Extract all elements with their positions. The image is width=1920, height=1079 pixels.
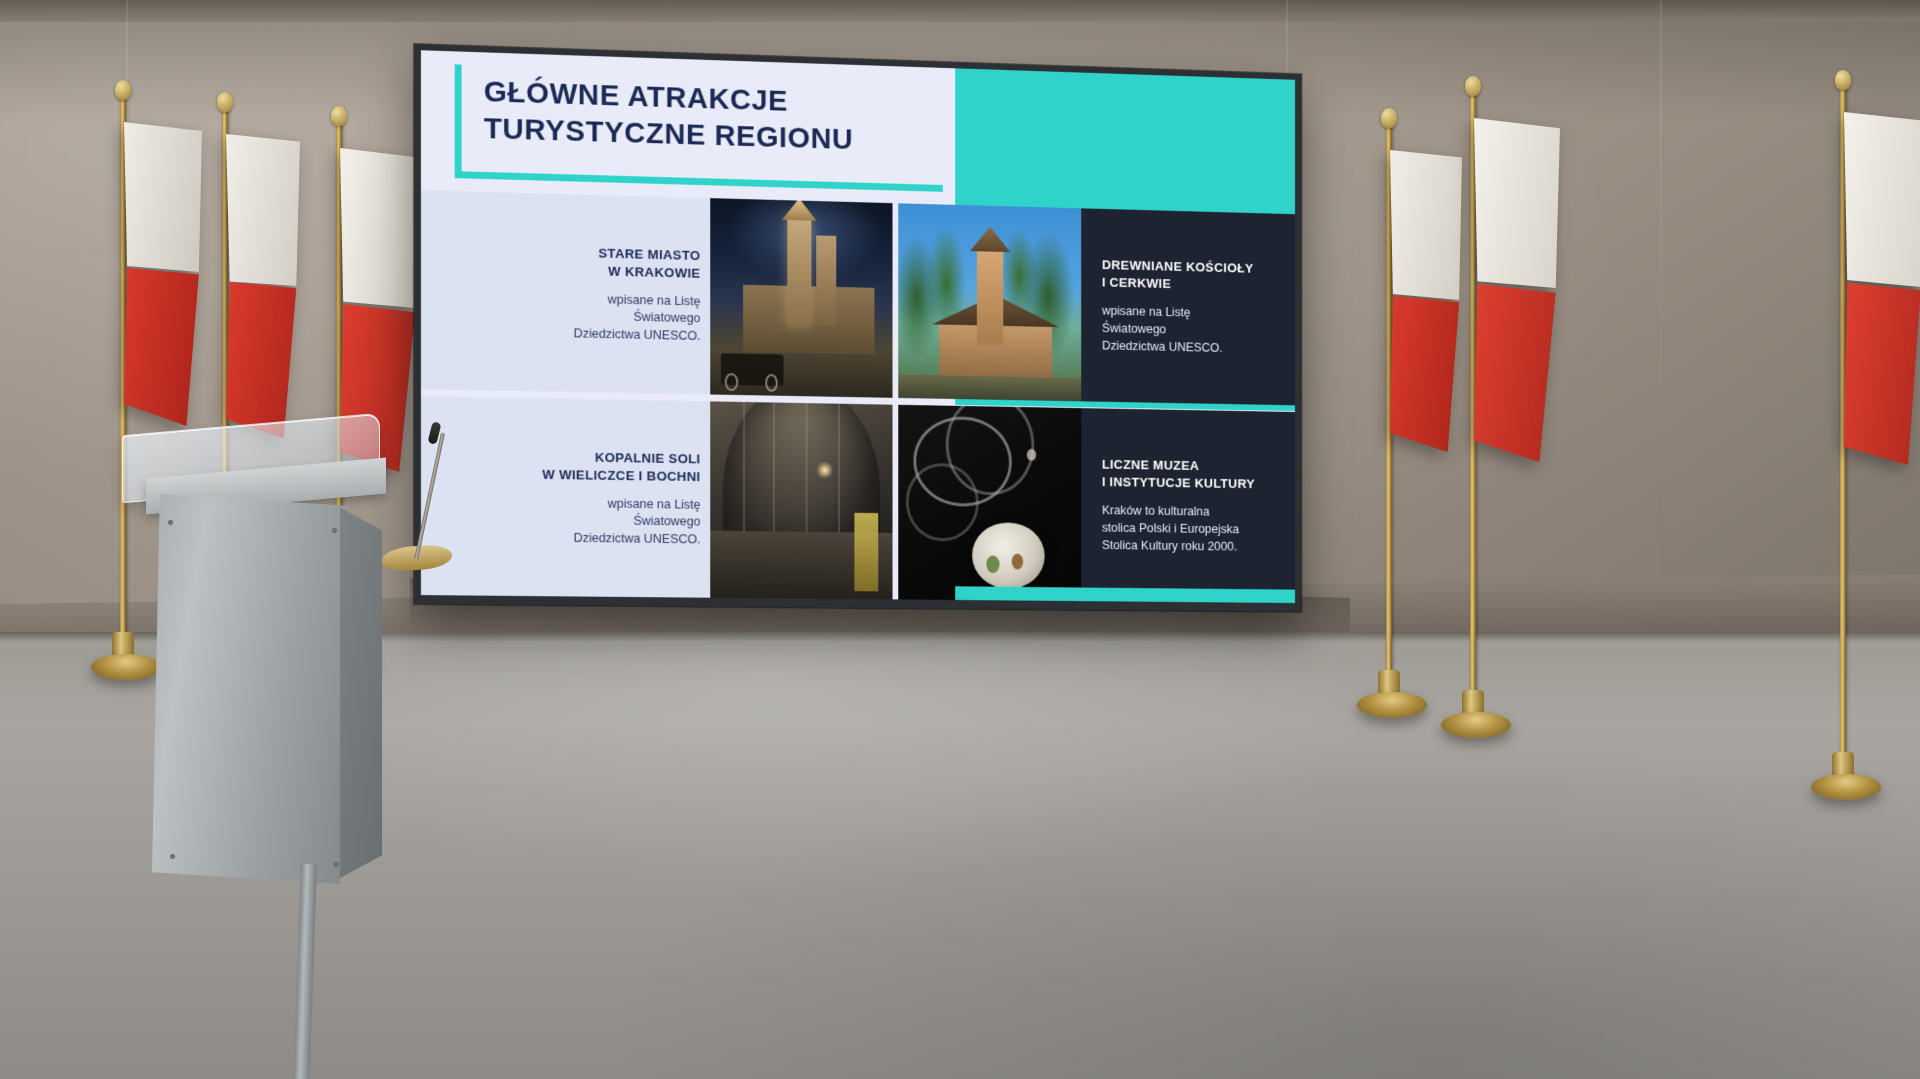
flag-right-3 <box>1840 86 1920 786</box>
conference-room: GŁÓWNE ATRAKCJE TURYSTYCZNE REGIONU STAR… <box>0 0 1920 1079</box>
slide: GŁÓWNE ATRAKCJE TURYSTYCZNE REGIONU STAR… <box>421 50 1295 603</box>
card-body: Kraków to kulturalna stolica Polski i Eu… <box>1102 501 1239 555</box>
card-body-line-3: Dziedzictwa UNESCO. <box>1102 336 1223 356</box>
speaker-lectern[interactable] <box>118 424 418 1079</box>
flag-finial-icon <box>1835 70 1851 90</box>
display-panel: GŁÓWNE ATRAKCJE TURYSTYCZNE REGIONU STAR… <box>421 50 1295 603</box>
flag-right-2 <box>1470 92 1600 724</box>
flag-cloth <box>1390 150 1462 450</box>
flag-cloth <box>226 134 300 434</box>
card-title: LICZNE MUZEA I INSTYTUCJE KULTURY <box>1102 456 1255 493</box>
flag-base <box>1441 712 1511 738</box>
slide-bottom-teal-strip <box>956 587 1295 604</box>
slide-title: GŁÓWNE ATRAKCJE TURYSTYCZNE REGIONU <box>484 75 853 159</box>
presentation-display[interactable]: GŁÓWNE ATRAKCJE TURYSTYCZNE REGIONU STAR… <box>414 44 1301 612</box>
card-title-line-1: KOPALNIE SOLI <box>542 448 700 468</box>
lectern-front-panel <box>152 494 348 884</box>
lectern-support-column <box>287 864 317 1079</box>
flag-finial-icon <box>217 92 233 112</box>
photo-wooden-church <box>898 203 1081 401</box>
flag-cloth <box>1474 118 1560 458</box>
card-body-line-2: stolica Polski i Europejska <box>1102 519 1239 538</box>
card-title-line-2: W WIELICZCE I BOCHNI <box>542 466 700 486</box>
card-body-line-3: Stolica Kultury roku 2000. <box>1102 536 1239 555</box>
flag-finial-icon <box>1381 108 1397 128</box>
card-title-line-1: LICZNE MUZEA <box>1102 456 1255 476</box>
card-title: DREWNIANE KOŚCIOŁY I CERKWIE <box>1102 256 1254 294</box>
slide-header: GŁÓWNE ATRAKCJE TURYSTYCZNE REGIONU <box>421 50 956 204</box>
lectern-side-panel <box>340 500 382 878</box>
flag-cloth <box>124 122 202 422</box>
flag-finial-icon <box>115 80 131 100</box>
flag-finial-icon <box>331 106 347 126</box>
card-title-line-2: W KRAKOWIE <box>598 262 700 282</box>
card-body-line-3: Dziedzictwa UNESCO. <box>574 324 701 344</box>
card-title-line-1: STARE MIASTO <box>598 244 700 264</box>
card-stare-miasto-text: STARE MIASTO W KRAKOWIE wpisane na Listę… <box>421 190 710 395</box>
card-body: wpisane na Listę Światowego Dziedzictwa … <box>574 494 701 548</box>
card-body-line-1: Kraków to kulturalna <box>1102 501 1239 520</box>
slide-body: STARE MIASTO W KRAKOWIE wpisane na Listę… <box>421 190 1295 603</box>
card-body-line-1: wpisane na Listę <box>574 494 701 513</box>
card-title: STARE MIASTO W KRAKOWIE <box>598 244 700 282</box>
card-drewniane-koscioly-text: DREWNIANE KOŚCIOŁY I CERKWIE wpisane na … <box>1081 208 1295 405</box>
card-body-line-3: Dziedzictwa UNESCO. <box>574 529 701 548</box>
flag-base <box>1811 774 1881 800</box>
display-bezel: GŁÓWNE ATRAKCJE TURYSTYCZNE REGIONU STAR… <box>414 44 1301 612</box>
flag-cloth <box>1844 112 1920 462</box>
card-body: wpisane na Listę Światowego Dziedzictwa … <box>1102 302 1223 357</box>
card-title-line-2: I INSTYTUCJE KULTURY <box>1102 473 1255 493</box>
slide-row-bottom: KOPALNIE SOLI W WIELICZCE I BOCHNI wpisa… <box>421 396 1295 603</box>
card-body-line-2: Światowego <box>1102 319 1223 339</box>
card-title: KOPALNIE SOLI W WIELICZCE I BOCHNI <box>542 448 700 486</box>
card-kopalnie-soli-text: KOPALNIE SOLI W WIELICZCE I BOCHNI wpisa… <box>421 396 710 598</box>
card-body-line-2: Światowego <box>574 511 701 530</box>
photo-salt-mine <box>710 401 893 599</box>
flag-base <box>1357 692 1427 718</box>
card-body: wpisane na Listę Światowego Dziedzictwa … <box>574 289 701 344</box>
photo-krakow-main-square <box>710 198 893 398</box>
photo-museum-exhibit <box>898 404 1081 601</box>
flag-finial-icon <box>1465 76 1481 96</box>
slide-row-top: STARE MIASTO W KRAKOWIE wpisane na Listę… <box>421 190 1295 406</box>
header-teal-block <box>956 68 1295 213</box>
card-muzea-text: LICZNE MUZEA I INSTYTUCJE KULTURY Kraków… <box>1081 408 1295 603</box>
